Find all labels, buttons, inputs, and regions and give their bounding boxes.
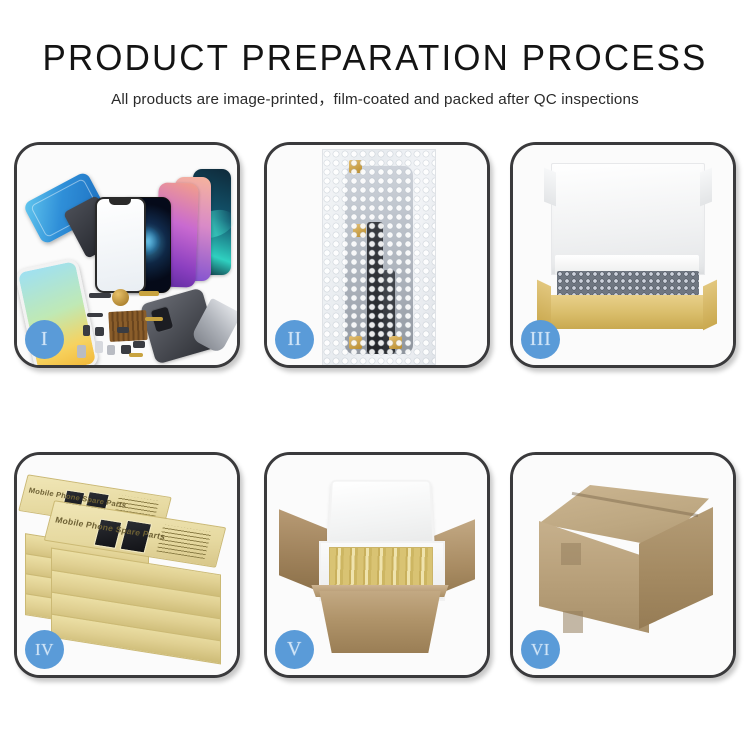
step-badge-4: IV	[25, 630, 64, 669]
carton-tape-patch	[561, 543, 581, 565]
carton-tape-patch	[563, 611, 583, 633]
chip-part	[95, 327, 104, 336]
step-badge-1: I	[25, 320, 64, 359]
step-badge-5: V	[275, 630, 314, 669]
step-panel-1: I	[14, 142, 240, 368]
stacked-gold-boxes	[329, 547, 433, 591]
gold-coin-part	[112, 289, 129, 306]
chip-part	[89, 293, 111, 298]
gold-flex-part	[129, 353, 143, 357]
step-badge-6: VI	[521, 630, 560, 669]
chip-part	[87, 313, 103, 317]
chip-part	[117, 327, 129, 333]
chip-part	[83, 325, 90, 336]
bubble-texture	[323, 150, 435, 365]
tempered-glass-screen	[95, 197, 146, 293]
connector-grid-chip	[108, 310, 148, 342]
step-badge-3: III	[521, 320, 560, 359]
product-preparation-infographic: PRODUCT PREPARATION PROCESS All products…	[0, 0, 750, 750]
step-panel-4: Mobile Phone Spare Parts Mobile Phone Sp…	[14, 452, 240, 678]
step-panel-5: V	[264, 452, 490, 678]
gold-flex-part	[139, 291, 159, 296]
step-badge-2: II	[275, 320, 314, 359]
chip-part	[77, 345, 86, 358]
gold-flex-part	[145, 317, 163, 321]
carton-front-panel	[311, 591, 449, 653]
bubble-wrap-bag	[322, 149, 436, 365]
step-panel-2: II	[264, 142, 490, 368]
chip-part	[95, 341, 103, 353]
chip-part	[133, 341, 145, 348]
box-spec-lines	[157, 525, 212, 559]
step-panel-6: VI	[510, 452, 736, 678]
step-panel-3: III	[510, 142, 736, 368]
yellow-box-base	[547, 295, 707, 329]
chip-part	[107, 345, 115, 355]
process-steps-grid: I II	[0, 0, 750, 750]
